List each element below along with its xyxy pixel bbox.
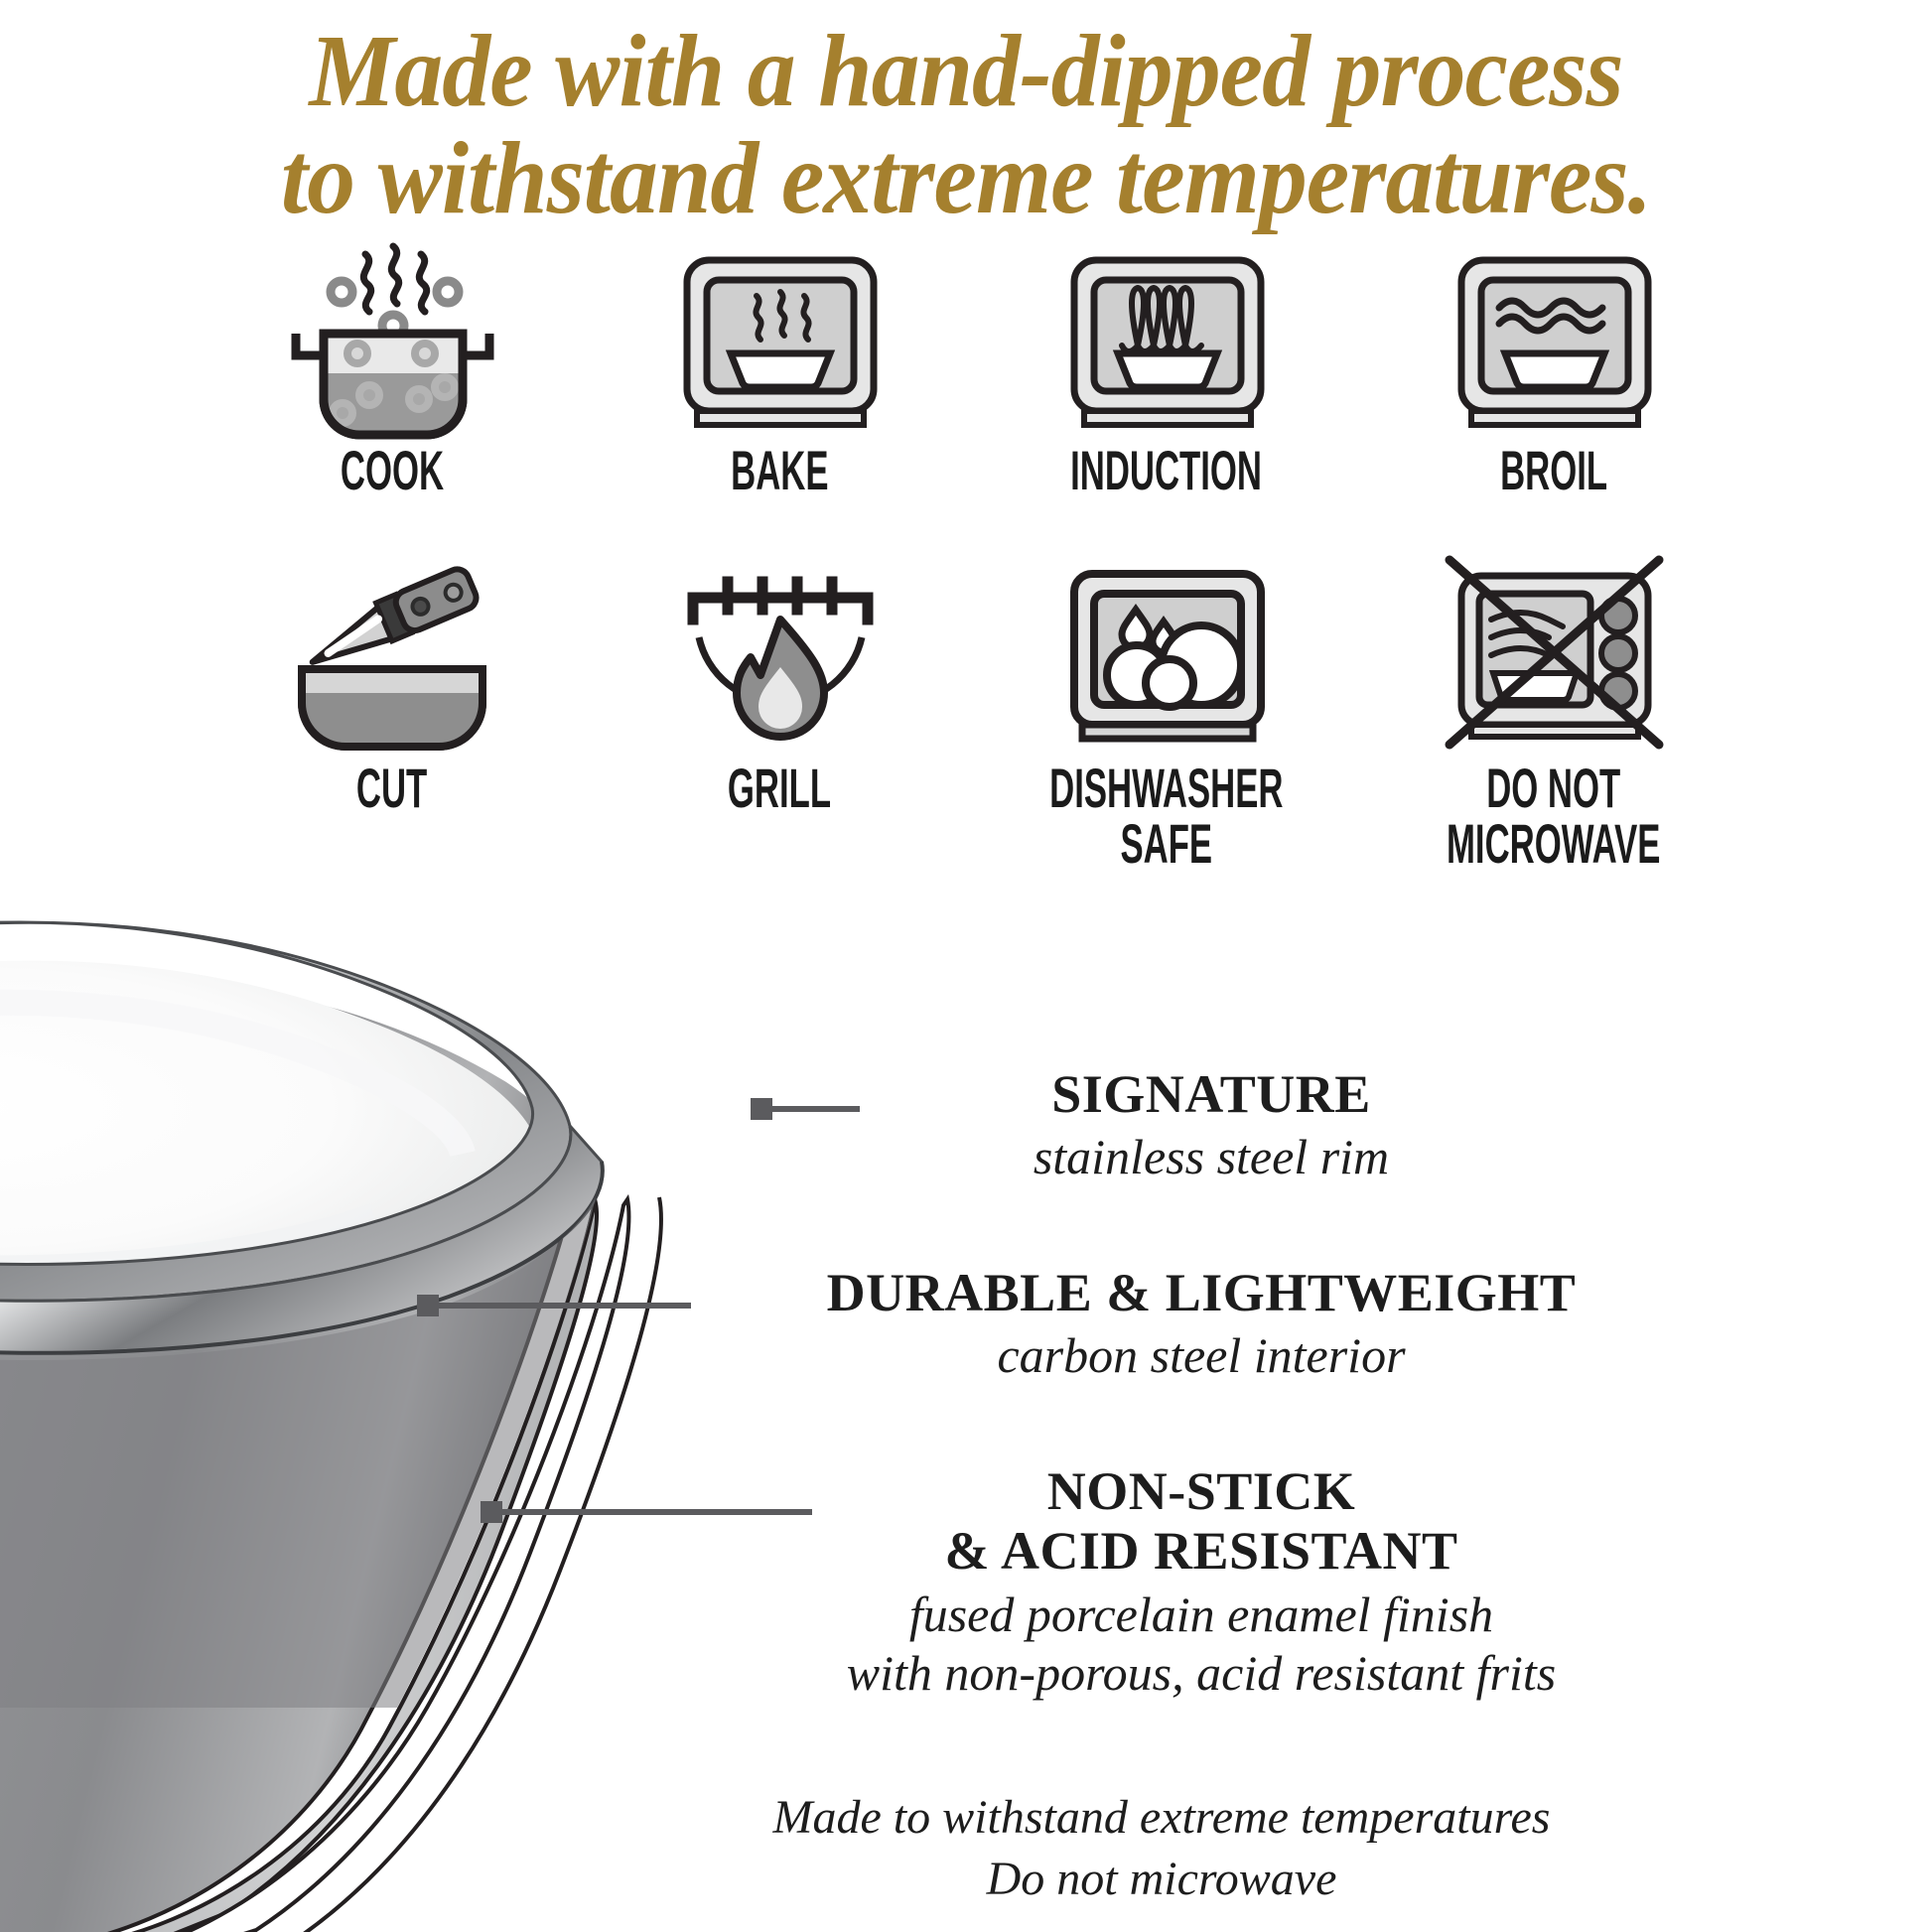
feature-cut: CUT — [199, 542, 586, 872]
feature-grill: GRILL — [586, 542, 973, 872]
feature-do-not-microwave: DO NOT MICROWAVE — [1360, 542, 1747, 872]
callout-durable-lightweight: DURABLE & LIGHTWEIGHT carbon steel inter… — [695, 1263, 1708, 1385]
callout-nonstick-subtitle: fused porcelain enamel finish with non-p… — [695, 1586, 1708, 1703]
feature-cut-label: CUT — [356, 760, 427, 816]
footer-note: Made to withstand extreme temperatures D… — [635, 1787, 1688, 1911]
icon-row-2: CUT — [199, 542, 1747, 872]
leader-line-signature — [764, 1106, 860, 1112]
feature-do-not-microwave-label: DO NOT MICROWAVE — [1447, 760, 1660, 872]
feature-broil-label: BROIL — [1500, 443, 1607, 498]
feature-cook: COOK — [199, 236, 586, 498]
feature-broil: BROIL — [1360, 236, 1747, 498]
callout-durable-subtitle: carbon steel interior — [695, 1326, 1708, 1385]
page-headline: Made with a hand-dipped process to withs… — [0, 18, 1932, 232]
dishwasher-icon — [1060, 542, 1274, 751]
callout-signature-title: SIGNATURE — [864, 1064, 1559, 1124]
leader-line-durable — [431, 1303, 691, 1309]
feature-icon-grid: COOK BA — [199, 236, 1747, 872]
feature-cook-label: COOK — [341, 443, 444, 498]
oven-broil-waves-icon — [1448, 236, 1661, 435]
callout-signature: SIGNATURE stainless steel rim — [864, 1064, 1559, 1186]
headline-line-1: Made with a hand-dipped process — [58, 18, 1873, 125]
icon-row-1: COOK BA — [199, 236, 1747, 498]
pot-boiling-icon — [286, 236, 499, 435]
feature-dishwasher-safe: DISHWASHER SAFE — [973, 542, 1360, 872]
feature-grill-label: GRILL — [728, 760, 831, 816]
headline-line-2: to withstand extreme temperatures. — [58, 125, 1873, 232]
callout-non-stick-acid-resistant: NON-STICK & ACID RESISTANT fused porcela… — [695, 1461, 1708, 1703]
microwave-crossed-out-icon — [1448, 542, 1661, 751]
callout-signature-subtitle: stainless steel rim — [864, 1128, 1559, 1186]
callout-durable-title: DURABLE & LIGHTWEIGHT — [695, 1263, 1708, 1322]
callout-nonstick-title: NON-STICK & ACID RESISTANT — [695, 1461, 1708, 1582]
oven-induction-coil-icon — [1060, 236, 1274, 435]
oven-bake-icon — [673, 236, 887, 435]
knife-over-pan-icon — [286, 542, 499, 751]
infographic-canvas: Made with a hand-dipped process to withs… — [0, 0, 1932, 1932]
feature-bake: BAKE — [586, 236, 973, 498]
feature-induction-label: INDUCTION — [1071, 443, 1263, 498]
grill-flame-icon — [673, 542, 887, 751]
feature-bake-label: BAKE — [731, 443, 828, 498]
feature-induction: INDUCTION — [973, 236, 1360, 498]
feature-dishwasher-safe-label: DISHWASHER SAFE — [1049, 760, 1283, 872]
